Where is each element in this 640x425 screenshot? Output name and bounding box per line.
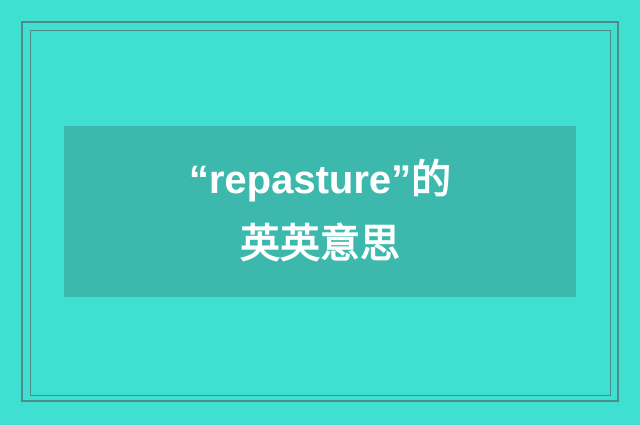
page-title: “repasture”的英英意思 [170, 148, 470, 276]
title-panel: “repasture”的英英意思 [64, 126, 576, 297]
title-block: “repasture”的英英意思 [170, 148, 470, 276]
poster-canvas: “repasture”的英英意思 [0, 0, 640, 425]
